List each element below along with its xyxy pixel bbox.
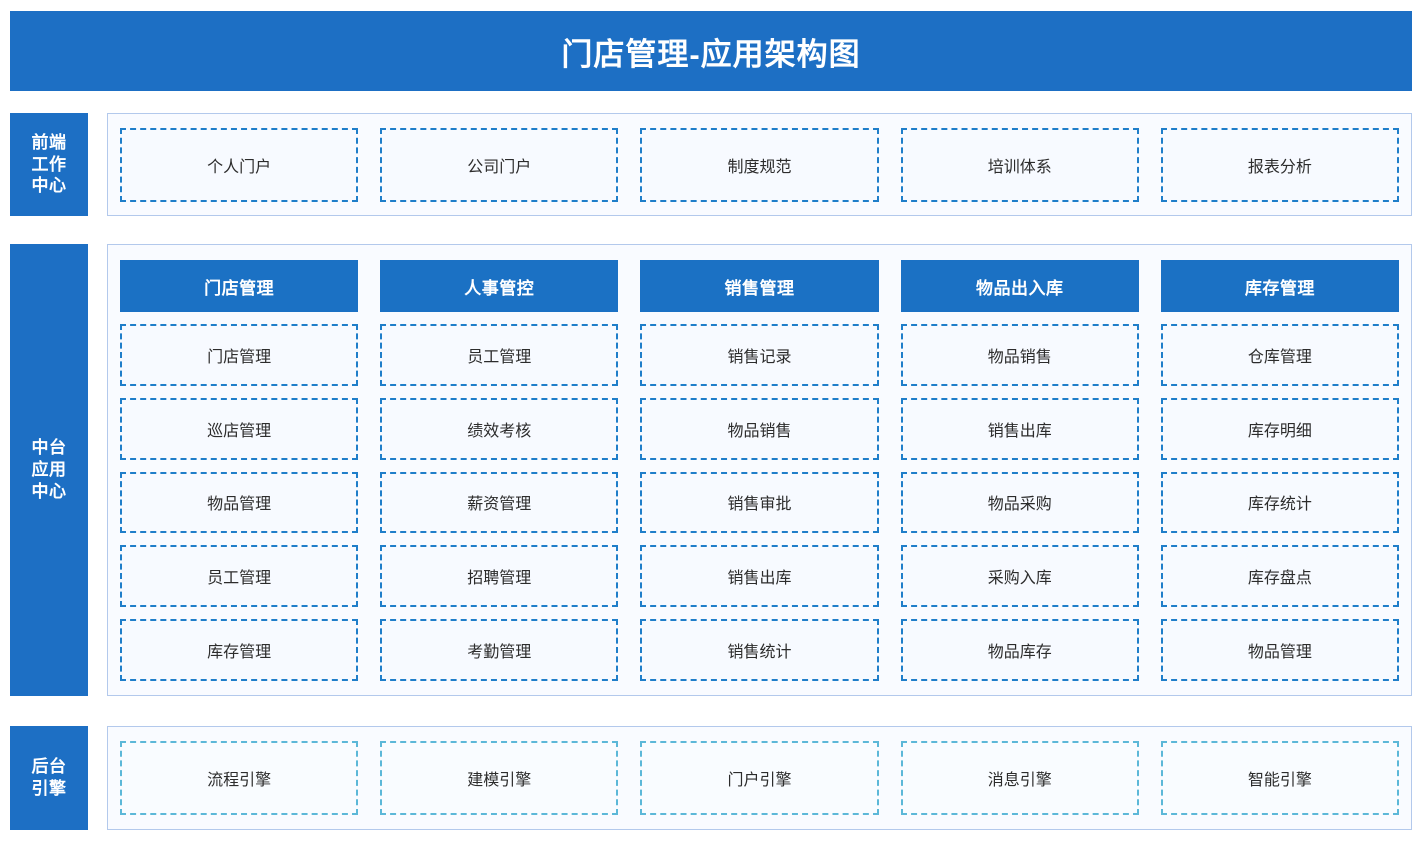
frontend-module-label: 培训体系 [988, 153, 1052, 177]
mid-column-hr-control: 人事管控 员工管理 绩效考核 薪资管理 招聘管理 考勤管理 [380, 260, 618, 681]
mid-module-item[interactable]: 销售审批 [640, 472, 878, 534]
mid-module-label: 销售审批 [728, 490, 792, 514]
band-panel-backend: 流程引擎 建模引擎 门户引擎 消息引擎 智能引擎 [107, 726, 1412, 830]
mid-module-item[interactable]: 库存明细 [1161, 398, 1399, 460]
diagram-title-bar: 门店管理-应用架构图 [10, 11, 1412, 91]
mid-module-item[interactable]: 物品管理 [1161, 619, 1399, 681]
frontend-module-label: 个人门户 [207, 153, 271, 177]
mid-module-label: 销售统计 [728, 638, 792, 662]
mid-module-item[interactable]: 物品库存 [901, 619, 1139, 681]
mid-module-item[interactable]: 销售统计 [640, 619, 878, 681]
mid-module-item[interactable]: 薪资管理 [380, 472, 618, 534]
mid-module-item[interactable]: 招聘管理 [380, 545, 618, 607]
band-backend-engine: 后台 引擎 流程引擎 建模引擎 门户引擎 消息引擎 智能引擎 [10, 726, 1412, 830]
frontend-module-label: 制度规范 [728, 153, 792, 177]
mid-column-header-inventory-management[interactable]: 库存管理 [1161, 260, 1399, 312]
mid-module-item[interactable]: 销售记录 [640, 324, 878, 386]
mid-module-label: 物品管理 [207, 490, 271, 514]
band-label-line: 工作 [32, 155, 67, 174]
frontend-module-label: 公司门户 [467, 153, 531, 177]
mid-module-label: 库存管理 [207, 638, 271, 662]
backend-engine-label: 门户引擎 [728, 766, 792, 790]
mid-module-item[interactable]: 物品销售 [640, 398, 878, 460]
mid-module-item[interactable]: 销售出库 [901, 398, 1139, 460]
mid-column-store-management: 门店管理 门店管理 巡店管理 物品管理 员工管理 库存管理 [120, 260, 358, 681]
mid-module-label: 考勤管理 [467, 638, 531, 662]
frontend-module-label: 报表分析 [1248, 153, 1312, 177]
band-label-mid-platform: 中台 应用 中心 [10, 244, 88, 696]
band-label-line: 中心 [32, 482, 67, 501]
backend-engine-portal[interactable]: 门户引擎 [640, 741, 878, 815]
frontend-module-report-analysis[interactable]: 报表分析 [1161, 128, 1399, 202]
mid-module-label: 仓库管理 [1248, 343, 1312, 367]
mid-module-item[interactable]: 绩效考核 [380, 398, 618, 460]
mid-module-item[interactable]: 库存统计 [1161, 472, 1399, 534]
mid-module-label: 招聘管理 [467, 564, 531, 588]
band-label-frontend-work-center: 前端 工作 中心 [10, 113, 88, 216]
band-mid-platform-application-center: 中台 应用 中心 门店管理 门店管理 巡店管理 物品管理 [10, 244, 1412, 696]
band-panel-frontend: 个人门户 公司门户 制度规范 培训体系 报表分析 [107, 113, 1412, 216]
mid-module-item[interactable]: 销售出库 [640, 545, 878, 607]
band-label-line: 后台 [32, 757, 67, 776]
mid-module-item[interactable]: 物品采购 [901, 472, 1139, 534]
mid-module-label: 员工管理 [467, 343, 531, 367]
mid-module-label: 门店管理 [207, 343, 271, 367]
mid-column-header-label: 物品出入库 [976, 274, 1064, 299]
mid-module-label: 物品销售 [728, 417, 792, 441]
band-label-backend-engine: 后台 引擎 [10, 726, 88, 830]
mid-column-header-label: 门店管理 [204, 274, 274, 299]
backend-engine-label: 流程引擎 [207, 766, 271, 790]
mid-module-label: 绩效考核 [467, 417, 531, 441]
frontend-module-training-system[interactable]: 培训体系 [901, 128, 1139, 202]
mid-module-label: 库存统计 [1248, 490, 1312, 514]
mid-module-label: 薪资管理 [467, 490, 531, 514]
band-label-line: 前端 [32, 133, 67, 152]
mid-column-sales-management: 销售管理 销售记录 物品销售 销售审批 销售出库 销售统计 [640, 260, 878, 681]
mid-column-header-label: 人事管控 [464, 274, 534, 299]
band-label-line: 引擎 [32, 779, 67, 798]
mid-module-label: 物品管理 [1248, 638, 1312, 662]
mid-module-label: 物品采购 [988, 490, 1052, 514]
backend-engine-label: 智能引擎 [1248, 766, 1312, 790]
mid-column-goods-in-out: 物品出入库 物品销售 销售出库 物品采购 采购入库 物品库存 [901, 260, 1139, 681]
backend-engine-intelligence[interactable]: 智能引擎 [1161, 741, 1399, 815]
band-label-line: 中台 [32, 438, 67, 457]
mid-module-label: 物品库存 [988, 638, 1052, 662]
mid-module-label: 员工管理 [207, 564, 271, 588]
backend-engine-message[interactable]: 消息引擎 [901, 741, 1139, 815]
mid-column-header-label: 库存管理 [1245, 274, 1315, 299]
band-panel-mid-platform: 门店管理 门店管理 巡店管理 物品管理 员工管理 库存管理 [107, 244, 1412, 696]
mid-module-label: 采购入库 [988, 564, 1052, 588]
mid-module-item[interactable]: 门店管理 [120, 324, 358, 386]
backend-engine-workflow[interactable]: 流程引擎 [120, 741, 358, 815]
mid-column-header-hr-control[interactable]: 人事管控 [380, 260, 618, 312]
mid-module-item[interactable]: 考勤管理 [380, 619, 618, 681]
mid-module-item[interactable]: 采购入库 [901, 545, 1139, 607]
mid-module-item[interactable]: 员工管理 [380, 324, 618, 386]
backend-engine-modeling[interactable]: 建模引擎 [380, 741, 618, 815]
mid-module-item[interactable]: 库存管理 [120, 619, 358, 681]
band-label-line: 中心 [32, 176, 67, 195]
mid-module-label: 销售出库 [728, 564, 792, 588]
band-label-line: 应用 [32, 460, 67, 479]
mid-column-header-sales-management[interactable]: 销售管理 [640, 260, 878, 312]
mid-module-item[interactable]: 巡店管理 [120, 398, 358, 460]
page-title: 门店管理-应用架构图 [561, 29, 860, 74]
frontend-module-policy-standards[interactable]: 制度规范 [640, 128, 878, 202]
frontend-module-company-portal[interactable]: 公司门户 [380, 128, 618, 202]
mid-module-item[interactable]: 员工管理 [120, 545, 358, 607]
architecture-diagram-canvas: 门店管理-应用架构图 前端 工作 中心 个人门户 公司门户 制度规范 培训体系 [0, 0, 1422, 841]
mid-module-item[interactable]: 物品管理 [120, 472, 358, 534]
mid-module-label: 库存盘点 [1248, 564, 1312, 588]
mid-module-item[interactable]: 物品销售 [901, 324, 1139, 386]
mid-module-label: 巡店管理 [207, 417, 271, 441]
mid-column-inventory-management: 库存管理 仓库管理 库存明细 库存统计 库存盘点 物品管理 [1161, 260, 1399, 681]
backend-engine-label: 消息引擎 [988, 766, 1052, 790]
mid-module-item[interactable]: 库存盘点 [1161, 545, 1399, 607]
mid-module-label: 物品销售 [988, 343, 1052, 367]
mid-column-header-goods-in-out[interactable]: 物品出入库 [901, 260, 1139, 312]
mid-module-label: 销售记录 [728, 343, 792, 367]
mid-column-header-label: 销售管理 [725, 274, 795, 299]
mid-module-label: 销售出库 [988, 417, 1052, 441]
mid-module-item[interactable]: 仓库管理 [1161, 324, 1399, 386]
band-frontend-work-center: 前端 工作 中心 个人门户 公司门户 制度规范 培训体系 报表分析 [10, 113, 1412, 216]
mid-module-label: 库存明细 [1248, 417, 1312, 441]
frontend-module-personal-portal[interactable]: 个人门户 [120, 128, 358, 202]
mid-column-header-store-management[interactable]: 门店管理 [120, 260, 358, 312]
backend-engine-label: 建模引擎 [467, 766, 531, 790]
